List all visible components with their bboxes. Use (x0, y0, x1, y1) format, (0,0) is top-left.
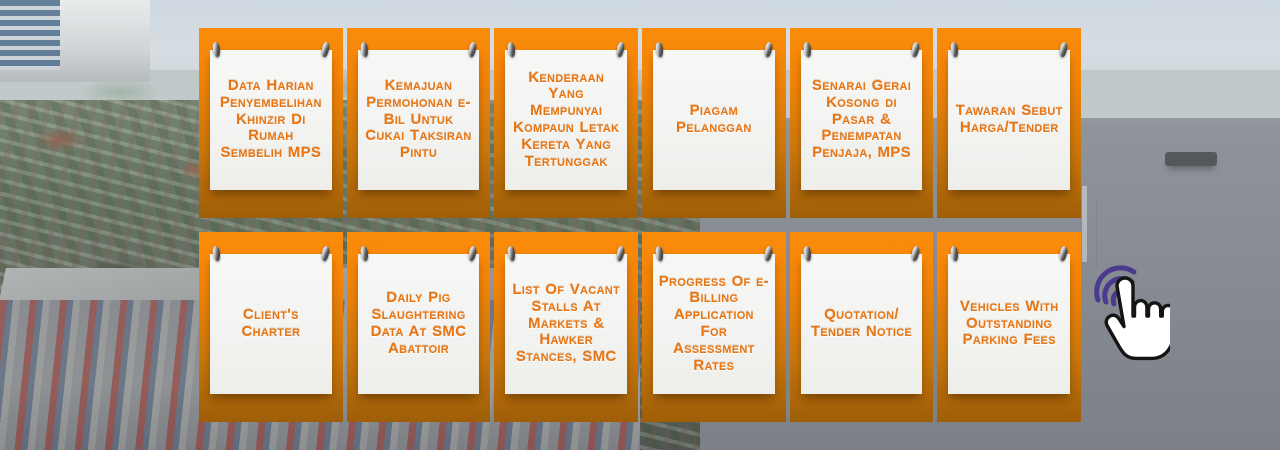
paper-clip-right-icon (764, 42, 773, 58)
card-tawaran-sebut-harga-tender[interactable]: Tawaran Sebut Harga/Tender (937, 28, 1081, 218)
card-data-harian-penyembelihan[interactable]: Data Harian Penyembelihan Khinzir Di Rum… (199, 28, 343, 218)
poster-sheet: Client's Charter (210, 254, 332, 394)
poster-sheet: Daily Pig Slaughtering Data At SMC Abatt… (358, 254, 480, 394)
paper-clip-right-icon (1059, 246, 1068, 262)
paper-clip-right-icon (321, 246, 330, 262)
card-vehicles-outstanding-parking-fees[interactable]: Vehicles With Outstanding Parking Fees (937, 232, 1081, 422)
paper-clip-left-icon (507, 42, 516, 58)
card-quotation-tender-notice[interactable]: Quotation/ Tender Notice (790, 232, 934, 422)
card-title: Progress Of e-Billing Application For As… (658, 274, 770, 375)
paper-clip-right-icon (616, 246, 625, 262)
card-senarai-gerai-kosong[interactable]: Senarai Gerai Kosong di Pasar & Penempat… (790, 28, 934, 218)
card-title: Senarai Gerai Kosong di Pasar & Penempat… (806, 78, 918, 162)
card-list-of-vacant-stalls[interactable]: List Of Vacant Stalls At Markets & Hawke… (494, 232, 638, 422)
card-title: Client's Charter (215, 307, 327, 341)
card-title: Vehicles With Outstanding Parking Fees (953, 299, 1065, 349)
poster-card-grid: Data Harian Penyembelihan Khinzir Di Rum… (199, 28, 1081, 422)
paper-clip-right-icon (911, 42, 920, 58)
poster-sheet: Vehicles With Outstanding Parking Fees (948, 254, 1070, 394)
paper-clip-left-icon (360, 42, 369, 58)
poster-sheet: Senarai Gerai Kosong di Pasar & Penempat… (801, 50, 923, 190)
card-title: Kenderaan Yang Mempunyai Kompaun Letak K… (510, 70, 622, 171)
paper-clip-right-icon (764, 246, 773, 262)
paper-clip-right-icon (468, 246, 477, 262)
paper-clip-left-icon (950, 246, 959, 262)
paper-clip-left-icon (655, 246, 664, 262)
card-title: Kemajuan Permohonan e-Bil Untuk Cukai Ta… (363, 78, 475, 162)
card-piagam-pelanggan[interactable]: Piagam Pelanggan (642, 28, 786, 218)
paper-clip-left-icon (655, 42, 664, 58)
paper-clip-left-icon (360, 246, 369, 262)
card-kemajuan-permohonan-e-bil[interactable]: Kemajuan Permohonan e-Bil Untuk Cukai Ta… (347, 28, 491, 218)
card-title: Piagam Pelanggan (658, 103, 770, 137)
paper-clip-left-icon (803, 42, 812, 58)
card-daily-pig-slaughtering-data[interactable]: Daily Pig Slaughtering Data At SMC Abatt… (347, 232, 491, 422)
poster-sheet: Kenderaan Yang Mempunyai Kompaun Letak K… (505, 50, 627, 190)
paper-clip-left-icon (803, 246, 812, 262)
poster-sheet: Data Harian Penyembelihan Khinzir Di Rum… (210, 50, 332, 190)
card-progress-of-e-billing[interactable]: Progress Of e-Billing Application For As… (642, 232, 786, 422)
poster-sheet: Tawaran Sebut Harga/Tender (948, 50, 1070, 190)
poster-sheet: Piagam Pelanggan (653, 50, 775, 190)
card-title: Tawaran Sebut Harga/Tender (953, 103, 1065, 137)
paper-clip-right-icon (468, 42, 477, 58)
card-title: Daily Pig Slaughtering Data At SMC Abatt… (363, 290, 475, 357)
paper-clip-left-icon (507, 246, 516, 262)
paper-clip-left-icon (950, 42, 959, 58)
poster-sheet: Progress Of e-Billing Application For As… (653, 254, 775, 394)
card-title: Data Harian Penyembelihan Khinzir Di Rum… (215, 78, 327, 162)
card-clients-charter[interactable]: Client's Charter (199, 232, 343, 422)
poster-sheet: Kemajuan Permohonan e-Bil Untuk Cukai Ta… (358, 50, 480, 190)
card-title: List Of Vacant Stalls At Markets & Hawke… (510, 282, 622, 366)
paper-clip-left-icon (212, 42, 221, 58)
poster-sheet: List Of Vacant Stalls At Markets & Hawke… (505, 254, 627, 394)
card-kenderaan-kompaun-letak-kereta[interactable]: Kenderaan Yang Mempunyai Kompaun Letak K… (494, 28, 638, 218)
poster-sheet: Quotation/ Tender Notice (801, 254, 923, 394)
paper-clip-right-icon (616, 42, 625, 58)
page-root: Data Harian Penyembelihan Khinzir Di Rum… (0, 0, 1280, 450)
paper-clip-right-icon (321, 42, 330, 58)
paper-clip-left-icon (212, 246, 221, 262)
paper-clip-right-icon (1059, 42, 1068, 58)
card-title: Quotation/ Tender Notice (806, 307, 918, 341)
paper-clip-right-icon (911, 246, 920, 262)
